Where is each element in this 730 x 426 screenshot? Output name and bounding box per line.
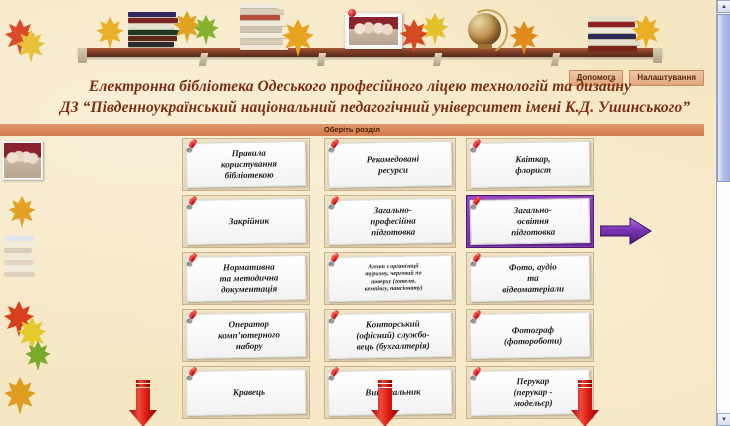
note-card: Агент з організації туризму, черговий по…: [328, 255, 453, 302]
section-button[interactable]: Фото, аудіо та відеоматеріали: [466, 252, 594, 305]
selection-arrow-right-icon: [600, 216, 652, 246]
section-button-label: Конторський (офісний) службо- вець (бухг…: [346, 316, 434, 355]
shelf-bracket: [433, 53, 442, 66]
section-button-label: Перукар (перукар - модельєр): [503, 374, 557, 412]
shelf-bracket: [199, 53, 208, 66]
section-bar: Оберіть розділ: [0, 124, 704, 136]
note-card: Нормативна та методична документація: [186, 255, 307, 302]
section-button[interactable]: Кравець: [182, 366, 310, 419]
section-button-label: Оператор комп’ютерного набору: [208, 316, 284, 354]
note-card: Рекомедовані ресурси: [328, 141, 453, 188]
section-button-label: Квіткар, флорист: [505, 151, 555, 178]
scrollbar-down-button[interactable]: ▼: [717, 413, 730, 426]
maple-leaf-icon: [508, 20, 540, 56]
vertical-scrollbar[interactable]: ▲ ▼: [716, 0, 730, 426]
scrollbar-track[interactable]: [717, 182, 730, 413]
note-card: Оператор комп’ютерного набору: [186, 312, 307, 359]
header-decoration: [0, 0, 716, 72]
section-button[interactable]: Рекомедовані ресурси: [324, 138, 456, 191]
shelf-bracket: [551, 53, 560, 66]
note-card: Фотограф (фотороботи): [470, 312, 591, 359]
scroll-down-arrow-icon[interactable]: [570, 380, 600, 426]
section-button[interactable]: Конторський (офісний) службо- вець (бухг…: [324, 309, 456, 362]
section-button[interactable]: Правила користування бібліотекою: [182, 138, 310, 191]
note-card: Загально- професійна підготовка: [328, 198, 453, 245]
section-button[interactable]: Оператор комп’ютерного набору: [182, 309, 310, 362]
framed-photo: [345, 13, 402, 49]
section-button[interactable]: Фотограф (фотороботи): [466, 309, 594, 362]
globe-icon: [468, 13, 501, 46]
note-card: Правила користування бібліотекою: [186, 141, 307, 188]
section-button[interactable]: Закрійник: [182, 195, 310, 248]
note-card: Квіткар, флорист: [470, 141, 591, 188]
note-card: Кравець: [186, 369, 307, 416]
note-card: Закрійник: [186, 198, 307, 245]
scroll-down-arrow-icon[interactable]: [370, 380, 400, 426]
section-button-label: Загально- професійна підготовка: [360, 202, 420, 240]
section-button-label: Нормативна та методична документація: [209, 259, 282, 297]
section-button-label: Фотограф (фотороботи): [494, 322, 567, 349]
page-title: Електронна бібліотека Одеського професій…: [60, 76, 660, 118]
note-card: Конторський (офісний) службо- вець (бухг…: [328, 312, 453, 359]
globe-base: [478, 44, 492, 49]
maple-leaf-icon: [192, 14, 220, 46]
section-button-label: Агент з організації туризму, черговий по…: [353, 261, 427, 296]
shelf-bracket: [317, 53, 326, 66]
section-button[interactable]: Агент з організації туризму, черговий по…: [324, 252, 456, 305]
section-button-label: Закрійник: [219, 214, 273, 230]
note-card: Фото, аудіо та відеоматеріали: [470, 255, 591, 302]
section-button-label: Загально- освітня підготовка: [501, 202, 560, 240]
maple-leaf-icon: [420, 12, 450, 46]
scrollbar-thumb[interactable]: [717, 14, 730, 182]
section-button[interactable]: Квіткар, флорист: [466, 138, 594, 191]
section-button[interactable]: Нормативна та методична документація: [182, 252, 310, 305]
maple-leaf-icon: [95, 16, 125, 50]
maple-leaf-icon: [630, 14, 662, 50]
shelf-left-end: [78, 48, 87, 63]
column-1: Правила користування бібліотекоюЗакрійни…: [182, 138, 310, 423]
shelf-board: [78, 48, 662, 57]
section-button-label: Правила користування бібліотекою: [211, 145, 282, 183]
section-button-label: Рекомедовані ресурси: [357, 151, 424, 178]
note-card: Загально- освітня підготовка: [470, 198, 591, 245]
section-button-label: Фото, аудіо та відеоматеріали: [492, 259, 568, 297]
scroll-down-arrow-icon[interactable]: [128, 380, 158, 426]
title-line-1: Електронна бібліотека Одеського професій…: [60, 76, 660, 97]
library-portal-page: Допомога Налаштування Електронна бібліот…: [0, 0, 716, 426]
section-button[interactable]: Загально- освітня підготовка: [466, 195, 594, 248]
shelf-right-end: [653, 48, 662, 63]
title-line-2: ДЗ “Південноукраїнський національний пед…: [60, 97, 660, 118]
scrollbar-up-button[interactable]: ▲: [717, 0, 730, 13]
section-button-label: Кравець: [223, 385, 269, 401]
section-button[interactable]: Загально- професійна підготовка: [324, 195, 456, 248]
maple-leaf-icon: [280, 18, 316, 58]
maple-leaf-icon: [16, 28, 46, 64]
pin-icon: [348, 9, 356, 17]
